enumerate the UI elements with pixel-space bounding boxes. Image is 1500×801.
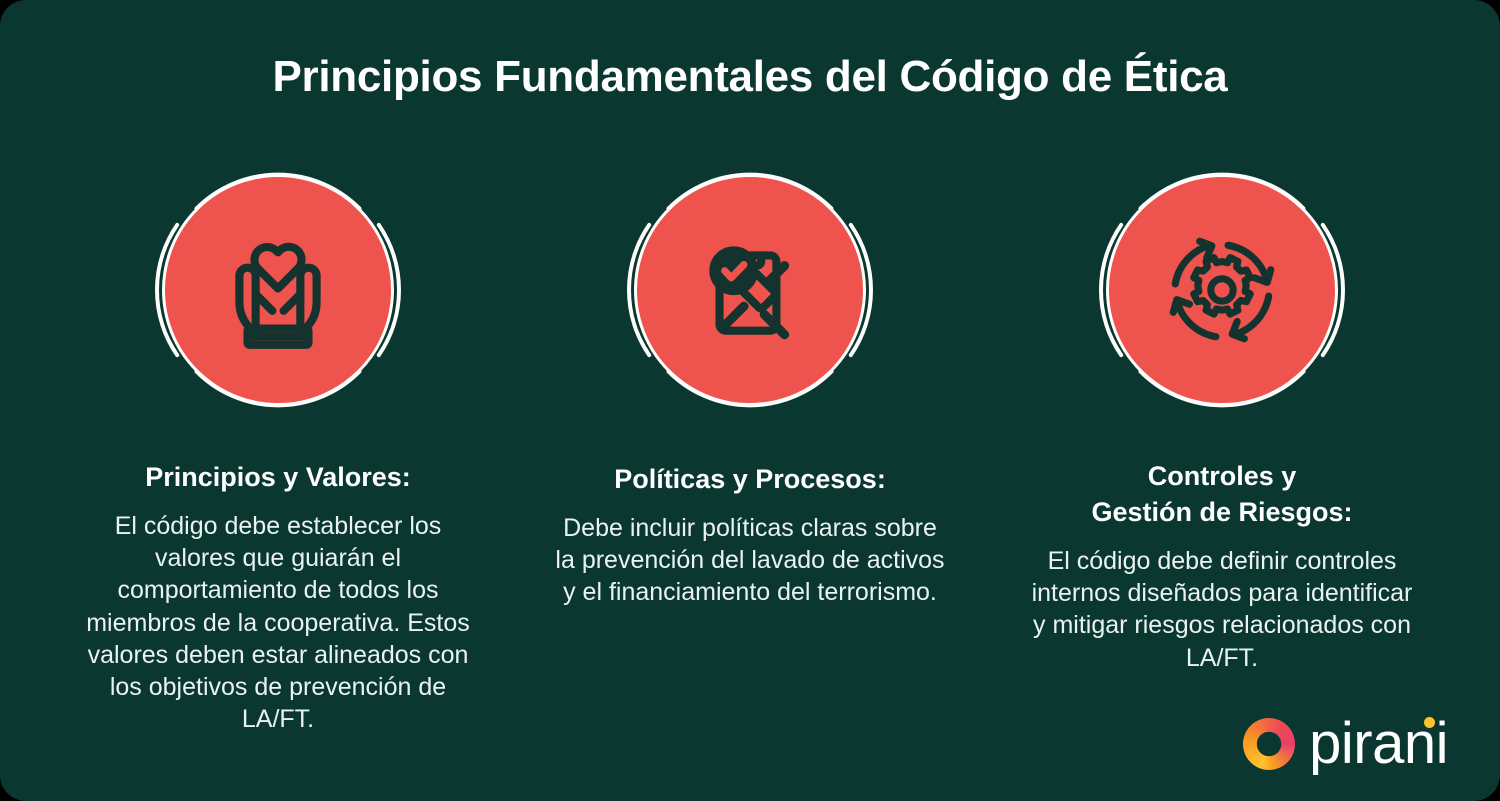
column-body-3: El código debe definir controles interno… — [1022, 545, 1422, 674]
pirani-logo[interactable]: pirani — [1243, 715, 1448, 773]
column-heading-2: Políticas y Procesos: — [614, 462, 886, 498]
infographic-poster: Principios Fundamentales del Código de É… — [0, 0, 1500, 801]
icon-disc-3 — [1106, 174, 1338, 406]
column-body-2: Debe incluir políticas claras sobre la p… — [550, 512, 950, 609]
column-politicas-y-procesos: Políticas y Procesos: Debe incluir polít… — [530, 140, 970, 736]
columns-container: Principios y Valores: El código debe est… — [0, 140, 1500, 736]
icon-disc-2 — [634, 174, 866, 406]
icon-disc-1 — [162, 174, 394, 406]
pirani-ring-mark-icon — [1243, 718, 1295, 770]
gear-cycle-arrows-icon — [1157, 225, 1287, 355]
pirani-i-dot-icon — [1424, 717, 1435, 728]
hands-holding-heart-icon — [213, 225, 343, 355]
document-gavel-check-icon — [685, 225, 815, 355]
column-body-1: El código debe establecer los valores qu… — [78, 510, 478, 736]
icon-badge-2 — [600, 140, 900, 440]
column-principios-y-valores: Principios y Valores: El código debe est… — [58, 140, 498, 736]
column-heading-3: Controles y Gestión de Riesgos: — [1091, 459, 1352, 531]
column-controles-y-gestion-de-riesgos: Controles y Gestión de Riesgos: El códig… — [1002, 140, 1442, 736]
column-heading-1: Principios y Valores: — [145, 460, 411, 496]
icon-badge-3 — [1072, 140, 1372, 440]
pirani-wordmark: pirani — [1309, 715, 1448, 773]
icon-badge-1 — [128, 140, 428, 440]
page-title: Principios Fundamentales del Código de É… — [0, 52, 1500, 102]
